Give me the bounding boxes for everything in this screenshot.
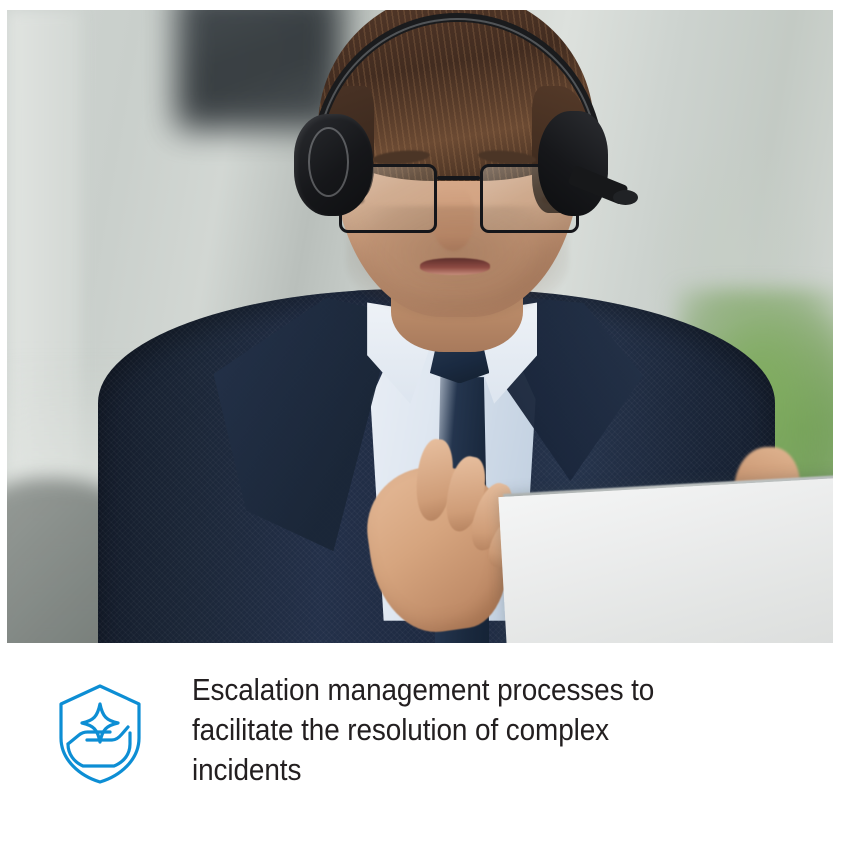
eyeglass-bridge (437, 176, 480, 180)
caption-icon-wrap (7, 668, 192, 786)
headset-earcup-left-ring (308, 127, 349, 197)
caption-text: Escalation management processes to facil… (192, 668, 769, 790)
subject-mouth (420, 258, 490, 274)
headset-earcup-right (538, 111, 608, 215)
shield-hand-sparkle-icon (54, 682, 146, 786)
caption-block: Escalation management processes to facil… (7, 668, 833, 828)
feature-photo (7, 10, 833, 643)
laptop-lid (498, 473, 833, 643)
headset-microphone-tip (613, 190, 638, 205)
sparkle-star (82, 704, 118, 742)
feature-card: Escalation management processes to facil… (0, 0, 842, 842)
